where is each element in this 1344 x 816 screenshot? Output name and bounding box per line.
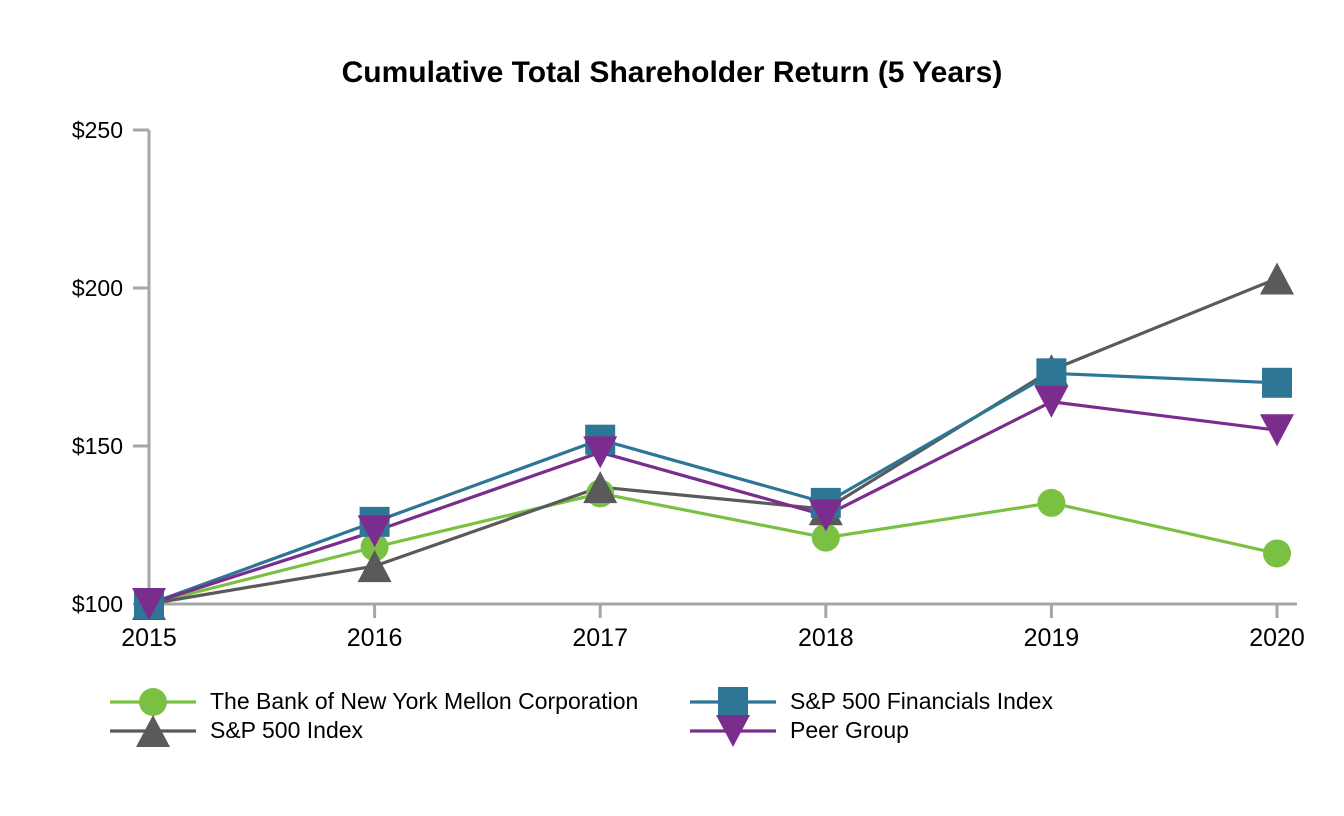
triangle-up-marker	[358, 550, 392, 582]
square-marker	[1036, 358, 1066, 388]
series-line	[149, 279, 1277, 604]
square-marker	[718, 687, 748, 717]
legend-label: The Bank of New York Mellon Corporation	[210, 688, 638, 714]
square-marker	[1262, 368, 1292, 398]
circle-marker	[1037, 489, 1065, 517]
circle-marker	[1263, 539, 1291, 567]
x-axis-label-2020: 2020	[1249, 624, 1305, 652]
y-axis-label-200: $200	[72, 275, 123, 301]
legend-item[interactable]: S&P 500 Financials Index	[690, 687, 1053, 717]
chart-legend: The Bank of New York Mellon CorporationS…	[110, 687, 1053, 747]
y-axis-label-150: $150	[72, 433, 123, 459]
chart-container: Cumulative Total Shareholder Return (5 Y…	[0, 0, 1344, 816]
series-line	[149, 402, 1277, 604]
series-s-p-500-index	[149, 279, 1277, 604]
series-markers	[134, 358, 1292, 619]
x-axis-tick-labels: 201520162017201820192020	[121, 624, 1305, 652]
legend-label: Peer Group	[790, 717, 909, 743]
x-axis-label-2015: 2015	[121, 624, 177, 652]
circle-marker	[139, 688, 167, 716]
legend-label: S&P 500 Index	[210, 717, 364, 743]
series-group	[132, 263, 1294, 620]
series-markers	[132, 386, 1294, 620]
x-axis-label-2018: 2018	[798, 624, 854, 652]
y-axis-tick-labels: $100$150$200$250	[72, 117, 123, 617]
series-peer-group	[149, 402, 1277, 604]
triangle-up-marker	[1260, 263, 1294, 295]
x-axis-label-2017: 2017	[572, 624, 628, 652]
x-axis-label-2016: 2016	[347, 624, 403, 652]
legend-label: S&P 500 Financials Index	[790, 688, 1053, 714]
series-markers	[132, 263, 1294, 620]
y-axis-label-100: $100	[72, 591, 123, 617]
legend-item[interactable]: S&P 500 Index	[110, 715, 364, 747]
chart-plot-area: 201520162017201820192020 $100$150$200$25…	[0, 0, 1344, 816]
series-markers	[135, 479, 1291, 618]
legend-item[interactable]: The Bank of New York Mellon Corporation	[110, 688, 638, 716]
y-axis-label-250: $250	[72, 117, 123, 143]
legend-item[interactable]: Peer Group	[690, 715, 909, 747]
x-axis-label-2019: 2019	[1024, 624, 1080, 652]
